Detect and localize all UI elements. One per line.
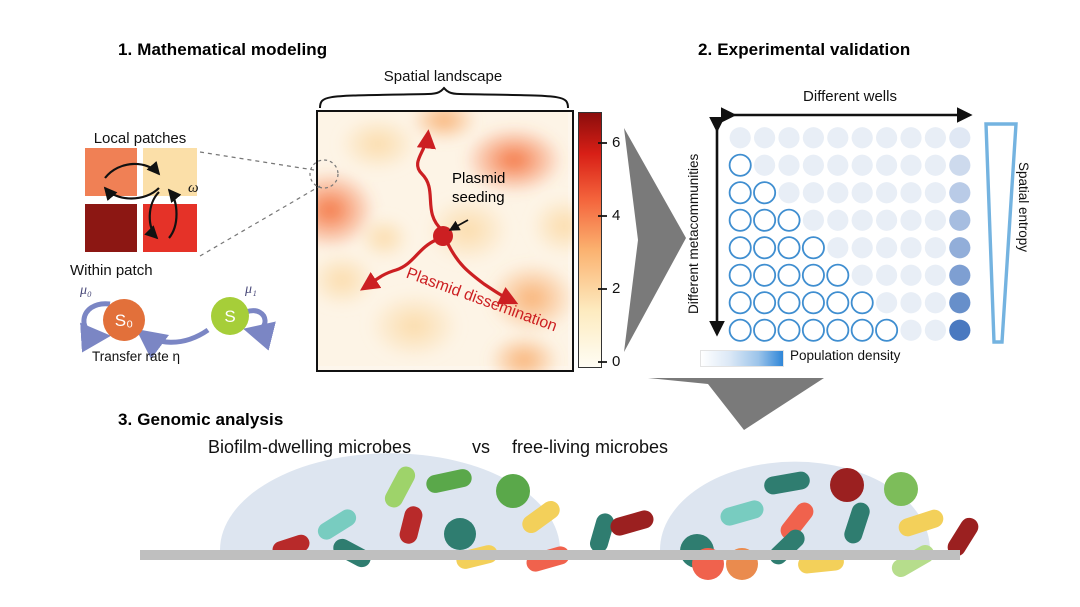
population-density-gradient (700, 350, 784, 367)
well[interactable] (754, 182, 775, 203)
well[interactable] (778, 182, 799, 203)
well[interactable] (900, 210, 921, 231)
arrow-to-experimental-validation (624, 120, 694, 360)
spatial-entropy-label: Spatial entropy (1016, 162, 1031, 312)
well[interactable] (827, 320, 848, 341)
population-density-label: Population density (790, 348, 900, 363)
well[interactable] (827, 182, 848, 203)
genomic-scene-svg (140, 468, 960, 568)
well[interactable] (925, 237, 946, 258)
colorbar-ticks (598, 108, 612, 370)
well[interactable] (900, 320, 921, 341)
spatial-landscape-label: Spatial landscape (318, 68, 568, 85)
spatial-landscape-brace (318, 88, 570, 110)
well[interactable] (925, 155, 946, 176)
well[interactable] (900, 127, 921, 148)
well-plate-grid[interactable] (728, 124, 972, 344)
well[interactable] (803, 210, 824, 231)
well[interactable] (852, 182, 873, 203)
well[interactable] (876, 155, 897, 176)
microbe-rod (588, 511, 616, 554)
well[interactable] (852, 292, 873, 313)
well[interactable] (949, 320, 970, 341)
well[interactable] (949, 155, 970, 176)
well[interactable] (827, 210, 848, 231)
well[interactable] (730, 320, 751, 341)
well[interactable] (754, 265, 775, 286)
well[interactable] (900, 292, 921, 313)
well[interactable] (827, 127, 848, 148)
well[interactable] (754, 320, 775, 341)
different-metacommunities-arrow (710, 124, 724, 342)
different-metacommunities-label: Different metacommunities (686, 128, 701, 340)
well[interactable] (876, 292, 897, 313)
well[interactable] (778, 265, 799, 286)
well[interactable] (876, 320, 897, 341)
well[interactable] (778, 237, 799, 258)
well[interactable] (803, 320, 824, 341)
well[interactable] (949, 237, 970, 258)
well[interactable] (900, 237, 921, 258)
microbe-coccus (496, 474, 530, 508)
well[interactable] (778, 292, 799, 313)
surface-line (140, 550, 960, 560)
well[interactable] (778, 155, 799, 176)
well[interactable] (876, 127, 897, 148)
well[interactable] (730, 155, 751, 176)
well[interactable] (803, 182, 824, 203)
well[interactable] (730, 210, 751, 231)
panel-1-title: 1. Mathematical modeling (118, 40, 327, 60)
mu0-label: μ₀ (80, 283, 92, 299)
well[interactable] (754, 210, 775, 231)
genomic-scene (140, 468, 960, 568)
well[interactable] (778, 210, 799, 231)
panel-2-title: 2. Experimental validation (698, 40, 910, 60)
well[interactable] (949, 210, 970, 231)
well[interactable] (803, 265, 824, 286)
transfer-rate-label: Transfer rate η (92, 349, 180, 364)
panel-3-title: 3. Genomic analysis (118, 410, 283, 430)
well[interactable] (852, 127, 873, 148)
arrow-to-genomic-analysis (648, 378, 828, 434)
well[interactable] (925, 127, 946, 148)
well[interactable] (730, 265, 751, 286)
well[interactable] (778, 320, 799, 341)
well[interactable] (852, 155, 873, 176)
well[interactable] (949, 265, 970, 286)
well[interactable] (876, 265, 897, 286)
colorbar-tick-6: 6 (612, 134, 620, 151)
well[interactable] (754, 127, 775, 148)
microbe-coccus (830, 468, 864, 502)
well[interactable] (827, 155, 848, 176)
microbe-coccus (884, 472, 918, 506)
microbe-coccus (444, 518, 476, 550)
well[interactable] (876, 182, 897, 203)
well[interactable] (730, 182, 751, 203)
patch-zoom-connector (196, 138, 356, 266)
well[interactable] (852, 320, 873, 341)
well[interactable] (803, 127, 824, 148)
well[interactable] (803, 237, 824, 258)
well[interactable] (852, 265, 873, 286)
well[interactable] (852, 237, 873, 258)
colorbar-tick-0: 0 (612, 353, 620, 370)
well-plate-svg (728, 124, 972, 344)
plasmid-seeding-label: Plasmid seeding (452, 170, 562, 208)
well[interactable] (852, 210, 873, 231)
well[interactable] (925, 292, 946, 313)
well[interactable] (925, 182, 946, 203)
different-wells-label: Different wells (730, 88, 970, 105)
well[interactable] (803, 292, 824, 313)
well[interactable] (730, 292, 751, 313)
well[interactable] (925, 210, 946, 231)
well[interactable] (949, 292, 970, 313)
well[interactable] (730, 127, 751, 148)
comparison-vs-label: vs (472, 437, 490, 458)
microbe-rod (608, 508, 655, 537)
colorbar-tick-2: 2 (612, 280, 620, 297)
well[interactable] (754, 292, 775, 313)
within-patch-label: Within patch (70, 262, 153, 279)
node-s0-label: S₀ (115, 311, 133, 330)
well[interactable] (827, 237, 848, 258)
well[interactable] (827, 292, 848, 313)
comparison-right-label: free-living microbes (512, 437, 668, 458)
well[interactable] (876, 237, 897, 258)
well[interactable] (900, 265, 921, 286)
well[interactable] (754, 155, 775, 176)
well[interactable] (730, 237, 751, 258)
well[interactable] (925, 265, 946, 286)
well[interactable] (876, 210, 897, 231)
well[interactable] (925, 320, 946, 341)
well[interactable] (754, 237, 775, 258)
mu1-label: μ₁ (245, 282, 257, 298)
well[interactable] (778, 127, 799, 148)
well[interactable] (803, 155, 824, 176)
well[interactable] (900, 182, 921, 203)
well[interactable] (949, 127, 970, 148)
well[interactable] (827, 265, 848, 286)
different-wells-arrow (726, 108, 978, 122)
node-s-label: S (224, 307, 235, 326)
well[interactable] (949, 182, 970, 203)
colorbar-tick-4: 4 (612, 207, 620, 224)
well[interactable] (900, 155, 921, 176)
